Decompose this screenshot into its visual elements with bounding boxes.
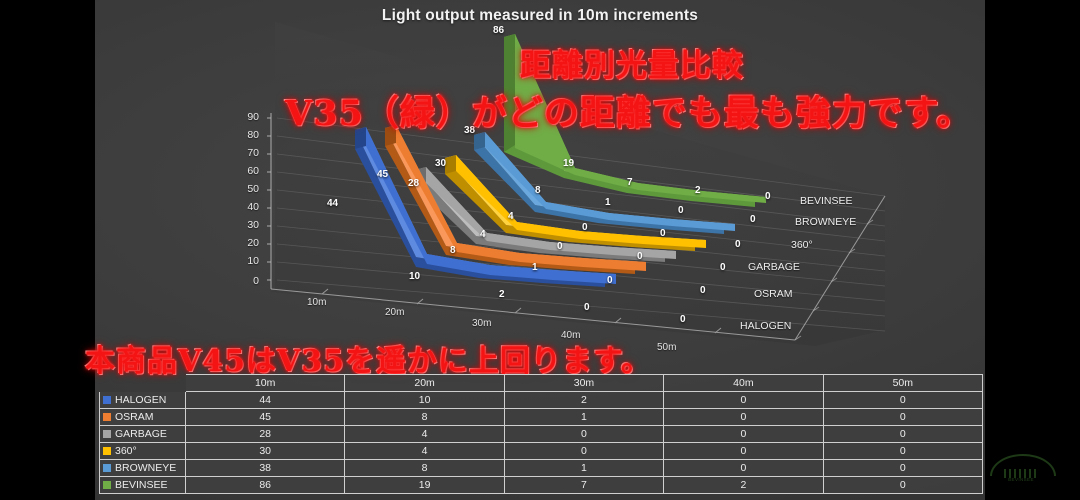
table-cell: 2 xyxy=(664,477,823,494)
data-label-halogen-50m: 0 xyxy=(680,314,686,325)
data-label-browneye-50m: 0 xyxy=(750,214,756,225)
table-cell: 0 xyxy=(504,426,663,443)
data-label-garbage-50m: 0 xyxy=(720,262,726,273)
table-cell: 8 xyxy=(345,460,504,477)
data-label-garbage-20m: 4 xyxy=(480,229,486,240)
data-label-360-40m: 0 xyxy=(660,228,666,239)
table-row-header-bevinsee: BEVINSEE xyxy=(100,477,186,494)
data-label-browneye-20m: 8 xyxy=(535,185,541,196)
y-tick-30: 30 xyxy=(233,219,259,231)
data-label-halogen-10m: 44 xyxy=(327,198,338,209)
data-label-browneye-30m: 1 xyxy=(605,197,611,208)
legend-swatch-icon xyxy=(103,413,111,421)
x-tick-30m: 30m xyxy=(472,318,491,329)
x-tick-50m: 50m xyxy=(657,342,676,353)
y-tick-90: 90 xyxy=(233,111,259,123)
data-label-bevinsee-30m: 7 xyxy=(627,177,633,188)
table-row: BROWNEYE 38 8 1 0 0 xyxy=(100,460,983,477)
table-row-header-halogen: HALOGEN xyxy=(100,392,186,409)
table-cell: 30 xyxy=(186,443,345,460)
table-row: 360° 30 4 0 0 0 xyxy=(100,443,983,460)
data-label-osram-30m: 1 xyxy=(532,262,538,273)
y-tick-70: 70 xyxy=(233,147,259,159)
data-label-halogen-40m: 0 xyxy=(584,302,590,313)
data-label-garbage-30m: 0 xyxy=(557,241,563,252)
data-label-360-30m: 0 xyxy=(582,222,588,233)
data-table: 10m 20m 30m 40m 50m HALOGEN 44 10 2 0 0 … xyxy=(99,374,983,494)
table-row-label: BEVINSEE xyxy=(115,479,168,491)
y-tick-40: 40 xyxy=(233,201,259,213)
table-cell: 44 xyxy=(186,392,345,409)
series-label-browneye: BROWNEYE xyxy=(795,216,856,228)
table-cell: 86 xyxy=(186,477,345,494)
table-cell: 0 xyxy=(823,460,982,477)
table-cell: 10 xyxy=(345,392,504,409)
legend-swatch-icon xyxy=(103,396,111,404)
data-label-bevinsee-50m: 0 xyxy=(765,191,771,202)
table-cell: 0 xyxy=(823,443,982,460)
table-cell: 0 xyxy=(664,460,823,477)
chart-canvas: Light output measured in 10m increments xyxy=(95,0,985,500)
table-cell: 0 xyxy=(504,443,663,460)
table-header-row: 10m 20m 30m 40m 50m xyxy=(100,375,983,392)
series-label-garbage: GARBAGE xyxy=(748,261,800,273)
table-cell: 0 xyxy=(823,477,982,494)
x-tick-20m: 20m xyxy=(385,307,404,318)
legend-swatch-icon xyxy=(103,464,111,472)
table-cell: 0 xyxy=(664,409,823,426)
table-cell: 45 xyxy=(186,409,345,426)
table-col-header-10m: 10m xyxy=(186,375,345,392)
data-label-bevinsee-10m: 86 xyxy=(493,25,504,36)
data-label-osram-50m: 0 xyxy=(700,285,706,296)
legend-swatch-icon xyxy=(103,430,111,438)
data-label-bevinsee-40m: 2 xyxy=(695,185,701,196)
table-row: BEVINSEE 86 19 7 2 0 xyxy=(100,477,983,494)
data-label-browneye-40m: 0 xyxy=(678,205,684,216)
table-cell: 0 xyxy=(664,443,823,460)
table-col-header-20m: 20m xyxy=(345,375,504,392)
y-tick-0: 0 xyxy=(233,275,259,287)
table-cell: 0 xyxy=(664,426,823,443)
table-cell: 4 xyxy=(345,443,504,460)
table-cell: 1 xyxy=(504,460,663,477)
series-label-osram: OSRAM xyxy=(754,288,793,300)
data-label-garbage-10m: 28 xyxy=(408,178,419,189)
table-row: HALOGEN 44 10 2 0 0 xyxy=(100,392,983,409)
y-tick-20: 20 xyxy=(233,237,259,249)
table-cell: 8 xyxy=(345,409,504,426)
data-label-halogen-30m: 2 xyxy=(499,289,505,300)
data-label-halogen-20m: 10 xyxy=(409,271,420,282)
table-row: OSRAM 45 8 1 0 0 xyxy=(100,409,983,426)
table-row-header-garbage: GARBAGE xyxy=(100,426,186,443)
watermark-text: BEVINSEE xyxy=(990,477,1052,482)
table-row-header-360: 360° xyxy=(100,443,186,460)
y-tick-50: 50 xyxy=(233,183,259,195)
data-label-360-50m: 0 xyxy=(735,239,741,250)
overlay-text-line2: V35（緑）がどの距離でも最も強力です。 xyxy=(285,85,972,136)
table-row-label: GARBAGE xyxy=(115,428,167,440)
table-row-header-osram: OSRAM xyxy=(100,409,186,426)
table-cell: 19 xyxy=(345,477,504,494)
overlay-text-line1: 距離別光量比較 xyxy=(520,40,744,85)
table-cell: 0 xyxy=(664,392,823,409)
y-tick-60: 60 xyxy=(233,165,259,177)
table-cell: 0 xyxy=(823,392,982,409)
legend-swatch-icon xyxy=(103,447,111,455)
y-tick-80: 80 xyxy=(233,129,259,141)
x-tick-10m: 10m xyxy=(307,297,326,308)
data-label-360-10m: 30 xyxy=(435,158,446,169)
table-cell: 28 xyxy=(186,426,345,443)
table-row-header-browneye: BROWNEYE xyxy=(100,460,186,477)
table-row: GARBAGE 28 4 0 0 0 xyxy=(100,426,983,443)
table-cell: 0 xyxy=(823,409,982,426)
table-col-header-50m: 50m xyxy=(823,375,982,392)
series-label-halogen: HALOGEN xyxy=(740,320,791,332)
table-cell: 2 xyxy=(504,392,663,409)
data-label-osram-20m: 8 xyxy=(450,245,456,256)
data-label-osram-10m: 45 xyxy=(377,169,388,180)
brand-watermark-logo: BEVINSEE xyxy=(990,452,1052,486)
table-cell: 1 xyxy=(504,409,663,426)
data-label-360-20m: 4 xyxy=(508,211,514,222)
data-label-garbage-40m: 0 xyxy=(637,251,643,262)
table-cell: 4 xyxy=(345,426,504,443)
table-col-header-40m: 40m xyxy=(664,375,823,392)
series-label-bevinsee: BEVINSEE xyxy=(800,195,853,207)
legend-swatch-icon xyxy=(103,481,111,489)
table-row-label: 360° xyxy=(115,445,137,457)
table-cell: 38 xyxy=(186,460,345,477)
series-label-360: 360° xyxy=(791,239,813,251)
y-tick-10: 10 xyxy=(233,255,259,267)
table-cell: 0 xyxy=(823,426,982,443)
table-row-label: BROWNEYE xyxy=(115,462,176,474)
data-label-bevinsee-20m: 19 xyxy=(563,158,574,169)
table-corner-cell xyxy=(100,375,186,392)
table-cell: 7 xyxy=(504,477,663,494)
table-col-header-30m: 30m xyxy=(504,375,663,392)
video-frame-stage: Light output measured in 10m increments xyxy=(0,0,1080,500)
table-row-label: HALOGEN xyxy=(115,394,166,406)
table-row-label: OSRAM xyxy=(115,411,154,423)
data-label-osram-40m: 0 xyxy=(607,275,613,286)
